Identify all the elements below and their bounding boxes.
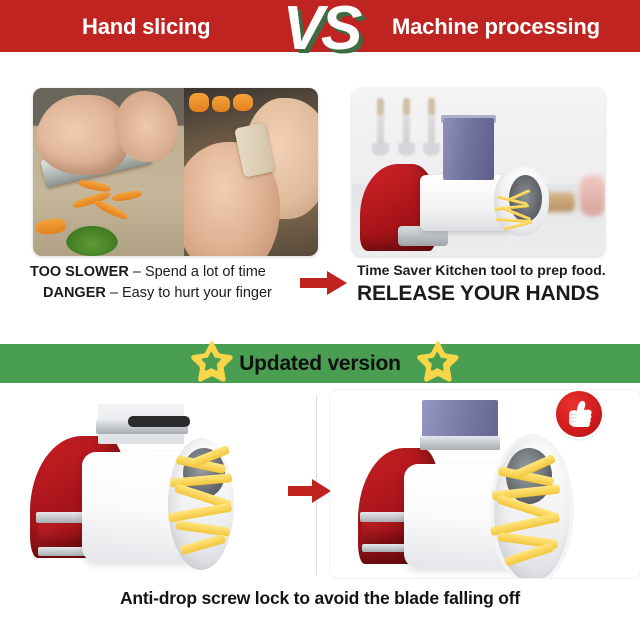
thumbs-up-badge <box>556 391 602 437</box>
infographic-page: Hand slicing VS VS Machine processing <box>0 0 640 618</box>
drawback-text: – Spend a lot of time <box>129 264 266 280</box>
thumbs-up-icon <box>567 400 593 428</box>
photo-injury-scene <box>184 88 318 256</box>
carrot-slice <box>189 93 208 112</box>
background-object <box>580 175 605 215</box>
drawback-item: DANGER – Easy to hurt your finger <box>30 283 300 304</box>
parsley-garnish <box>66 226 117 256</box>
star-icon <box>412 339 462 387</box>
carrot-slice <box>233 94 254 112</box>
header-right-title: Machine processing <box>392 14 600 40</box>
shredded-cheese <box>494 192 545 232</box>
old-latch <box>128 416 190 427</box>
machine-processing-photo <box>352 88 605 256</box>
upgrade-arrow-icon <box>288 478 332 504</box>
vs-text: VS <box>266 0 376 60</box>
hanging-utensil-icon <box>428 98 435 152</box>
hanging-utensil-icon <box>403 98 410 152</box>
bottom-caption: Anti-drop screw lock to avoid the blade … <box>0 588 640 609</box>
drawback-item: TOO SLOWER – Spend a lot of time <box>30 262 300 283</box>
banner-label: Updated version <box>0 348 640 380</box>
comparison-arrow-icon <box>300 270 348 296</box>
old-version-photo <box>0 390 300 578</box>
drawback-label: TOO SLOWER <box>30 264 129 280</box>
right-hand <box>115 91 178 162</box>
benefit-line-1: Time Saver Kitchen tool to prep food. <box>357 262 637 278</box>
hanging-utensil-icon <box>377 98 384 152</box>
machine-benefits: Time Saver Kitchen tool to prep food. RE… <box>357 262 637 306</box>
header-left-title: Hand slicing <box>82 14 210 40</box>
benefit-line-2: RELEASE YOUR HANDS <box>357 282 637 306</box>
drawback-label: DANGER <box>43 285 106 301</box>
vs-badge: VS VS <box>266 0 376 70</box>
carrot-slices-group <box>189 93 259 120</box>
metal-collar <box>420 436 500 450</box>
drawback-text: – Easy to hurt your finger <box>106 285 272 301</box>
food-pusher <box>443 118 494 180</box>
hand-slicing-drawbacks: TOO SLOWER – Spend a lot of time DANGER … <box>30 262 300 304</box>
hand-slicing-photo <box>33 88 318 256</box>
carrot-slice <box>212 96 230 112</box>
photo-cutting-scene <box>33 88 184 256</box>
